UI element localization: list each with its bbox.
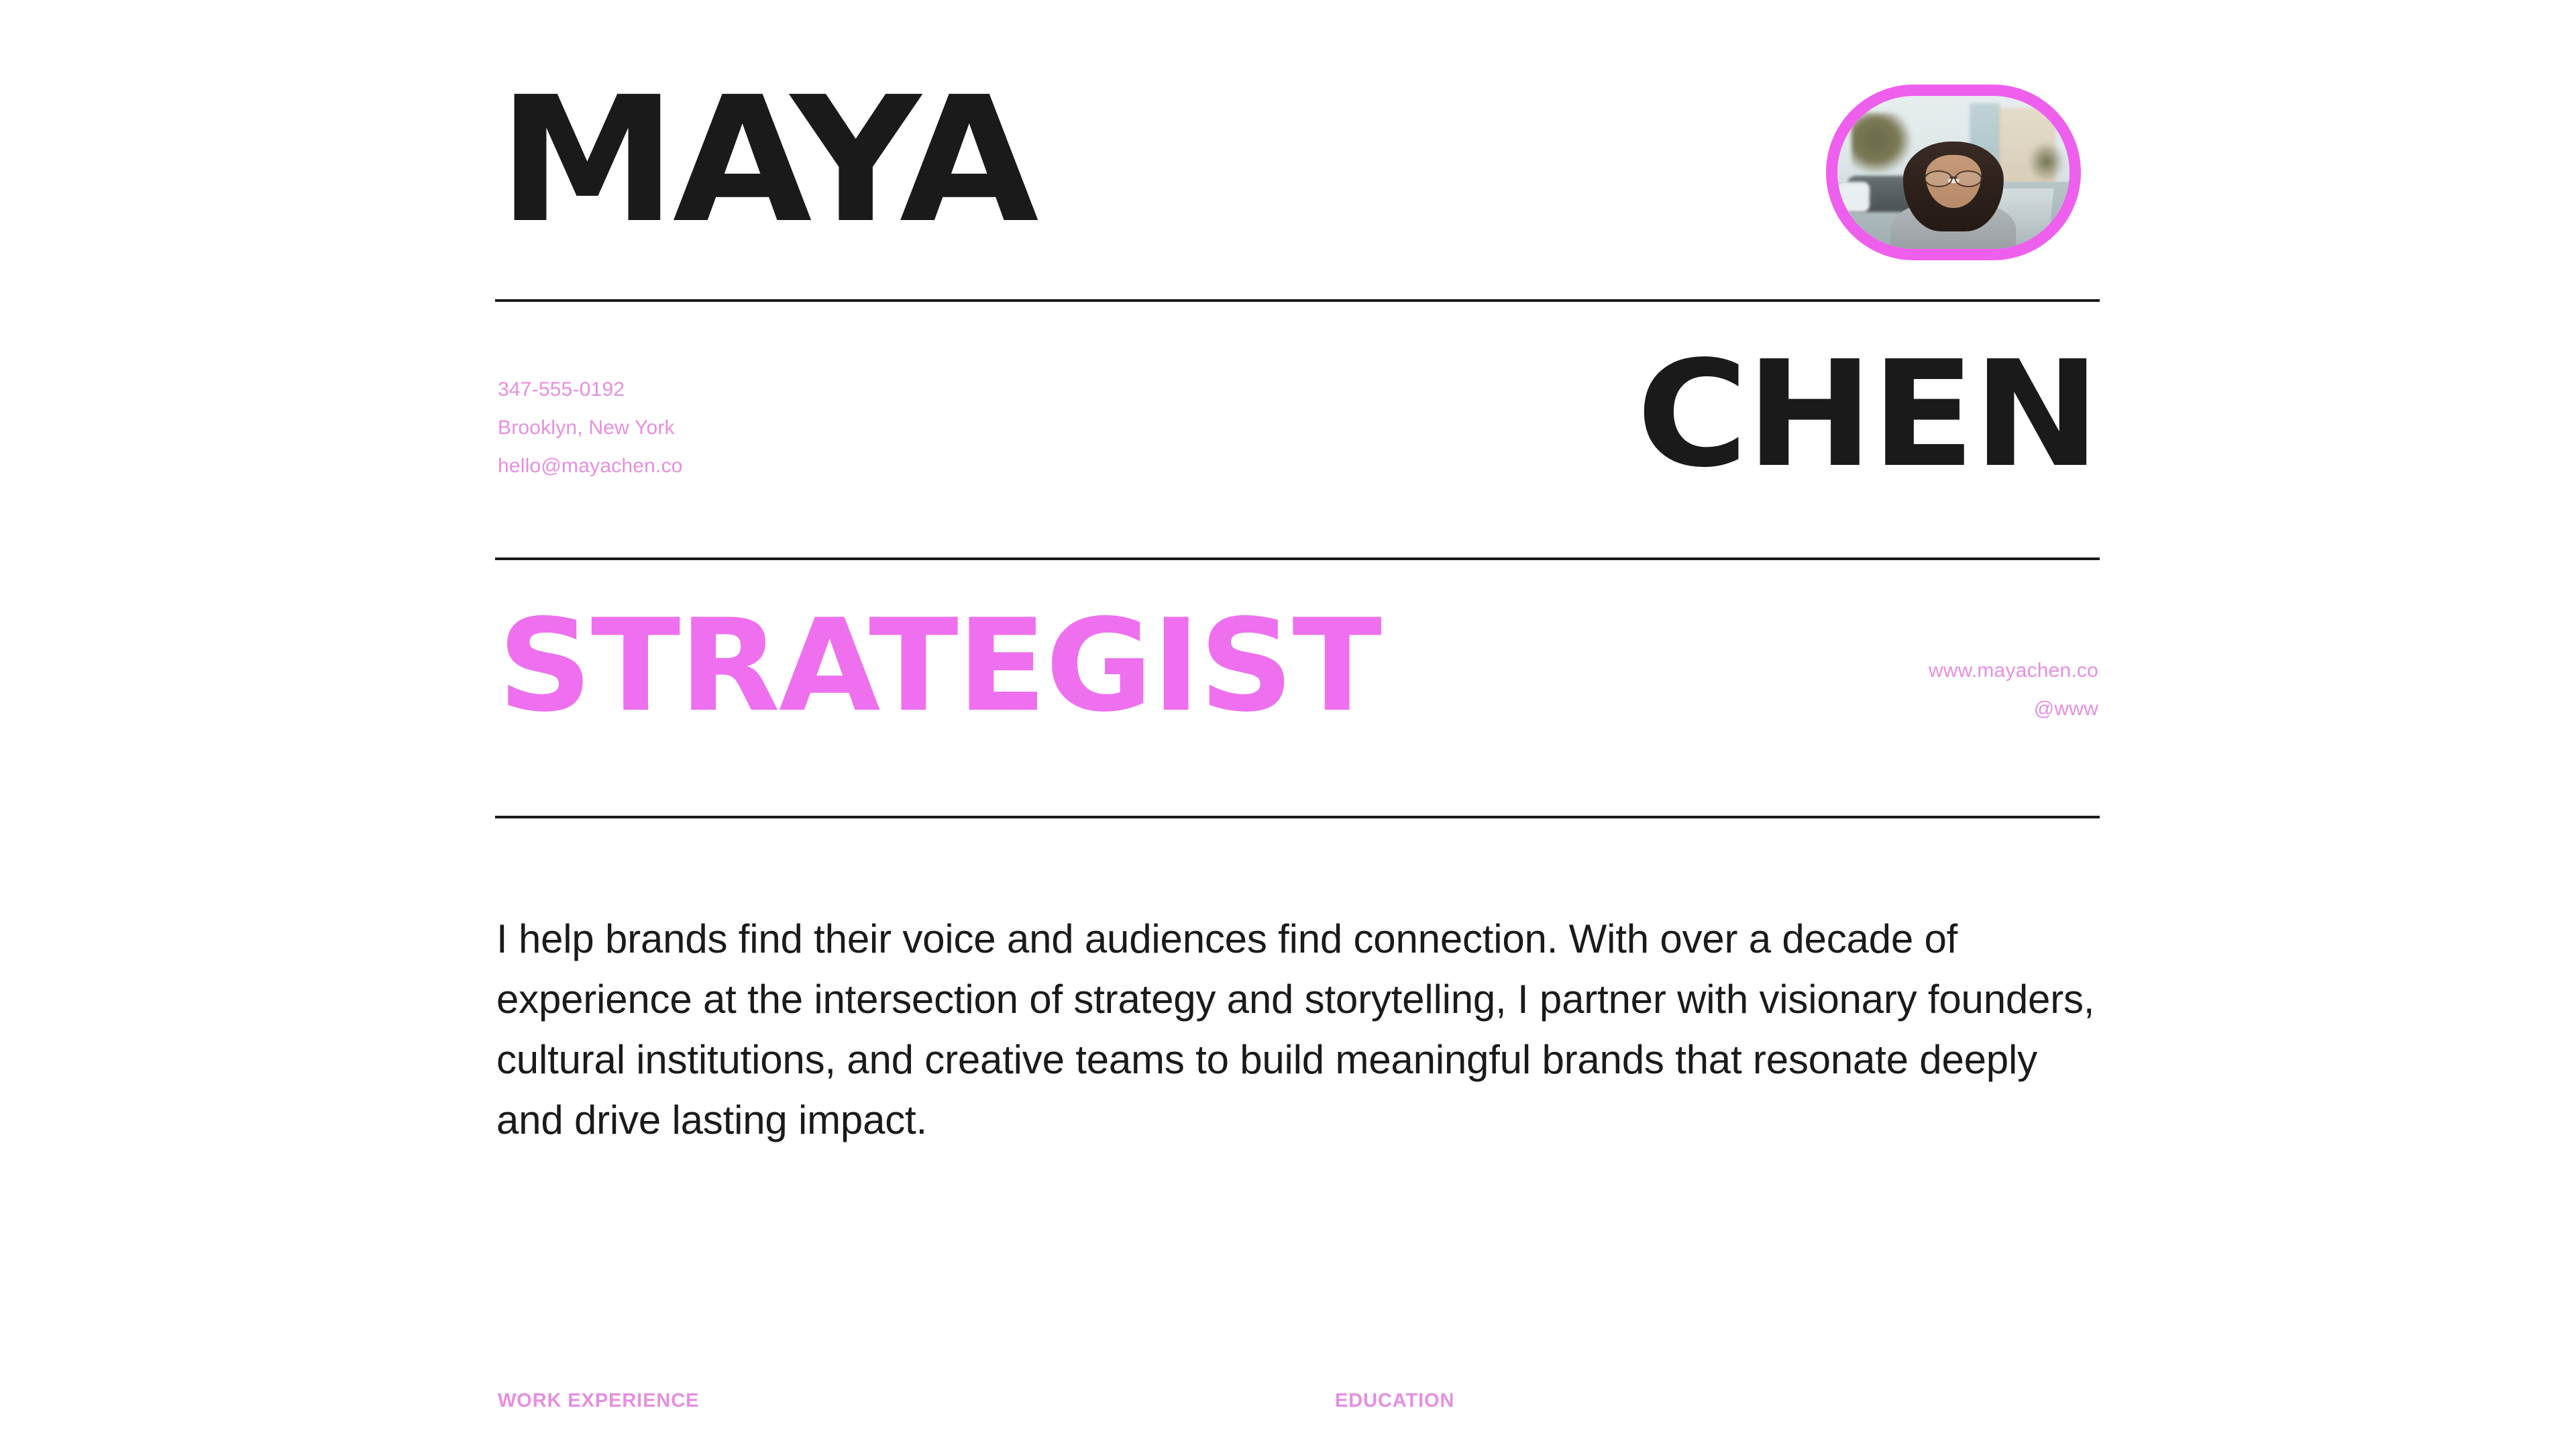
section-label-work-experience: WORK EXPERIENCE: [498, 1390, 699, 1412]
photo-tree-right: [2028, 142, 2065, 181]
divider-middle: [495, 557, 2100, 560]
contact-email[interactable]: hello@mayachen.co: [498, 456, 683, 476]
glasses-lens-left: [1925, 170, 1953, 187]
bio-paragraph: I help brands find their voice and audie…: [496, 909, 2100, 1150]
link-handle[interactable]: @www: [1929, 699, 2098, 719]
photo-car-secondary: [1837, 182, 1870, 213]
divider-top: [495, 299, 2100, 302]
contact-location: Brooklyn, New York: [498, 418, 683, 438]
links-block: www.mayachen.co @www: [1929, 661, 2098, 719]
photo-person: [1891, 142, 2017, 249]
link-website[interactable]: www.mayachen.co: [1929, 661, 2098, 681]
avatar-photo: [1837, 96, 2070, 249]
contact-block: 347-555-0192 Brooklyn, New York hello@ma…: [498, 380, 683, 476]
divider-bottom: [495, 816, 2100, 818]
section-label-education: EDUCATION: [1335, 1390, 1454, 1412]
page-title-first-name: MAYA: [498, 74, 1034, 247]
page-title-last-name: CHEN: [1637, 342, 2098, 488]
glasses-lens-right: [1954, 170, 1982, 187]
glasses-icon: [1925, 170, 1982, 184]
resume-page: MAYA: [0, 0, 2576, 1449]
avatar: [1826, 85, 2081, 260]
contact-phone[interactable]: 347-555-0192: [498, 380, 683, 400]
page-title-role: STRATEGIST: [498, 602, 1381, 730]
